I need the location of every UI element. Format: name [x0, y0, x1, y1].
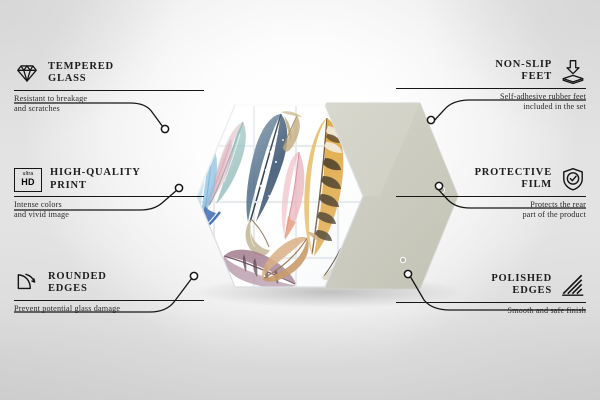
feature-divider [14, 196, 204, 197]
feature-non-slip-feet[interactable]: NON-SLIP FEET Self-adhesive rubber feet … [396, 58, 586, 112]
feature-divider [396, 196, 586, 197]
feature-polished-edges[interactable]: POLISHED EDGES Smooth and safe finish [396, 272, 586, 316]
feature-description: Prevent potential glass damage [14, 304, 204, 314]
feature-divider [396, 88, 586, 89]
feature-description: Resistant to breakage and scratches [14, 94, 204, 114]
feature-tempered-glass[interactable]: TEMPERED GLASS Resistant to breakage and… [14, 60, 204, 114]
feature-title: TEMPERED GLASS [48, 61, 114, 86]
feature-header: PROTECTIVE FILM [396, 166, 586, 192]
infographic-canvas: TEMPERED GLASS Resistant to breakage and… [0, 0, 600, 400]
feature-divider [14, 90, 204, 91]
feature-title: HIGH-QUALITY PRINT [50, 167, 141, 192]
feature-header: TEMPERED GLASS [14, 60, 204, 86]
feature-description: Intense colors and vivid image [14, 200, 204, 220]
feature-title: POLISHED EDGES [491, 273, 552, 298]
press-down-pad-icon [560, 58, 586, 84]
feature-description: Protects the rear part of the product [396, 200, 586, 220]
feature-divider [14, 300, 204, 301]
rounded-corner-icon [14, 270, 40, 296]
diamond-icon [14, 60, 40, 86]
feature-header: NON-SLIP FEET [396, 58, 586, 84]
shield-check-icon [560, 166, 586, 192]
feature-title: NON-SLIP FEET [495, 59, 552, 84]
hatch-lines-icon [560, 272, 586, 298]
feature-divider [396, 302, 586, 303]
feature-title: ROUNDED EDGES [48, 271, 107, 296]
ultra-hd-icon: ultra HD [14, 168, 42, 192]
feature-rounded-edges[interactable]: ROUNDED EDGES Prevent potential glass da… [14, 270, 204, 314]
feature-header: POLISHED EDGES [396, 272, 586, 298]
feature-description: Smooth and safe finish [396, 306, 586, 316]
feature-title: PROTECTIVE FILM [475, 167, 552, 192]
feature-protective-film[interactable]: PROTECTIVE FILM Protects the rear part o… [396, 166, 586, 220]
feature-description: Self-adhesive rubber feet included in th… [396, 92, 586, 112]
feature-header: ultra HD HIGH-QUALITY PRINT [14, 167, 204, 192]
feature-high-quality-print[interactable]: ultra HD HIGH-QUALITY PRINT Intense colo… [14, 167, 204, 220]
feature-header: ROUNDED EDGES [14, 270, 204, 296]
